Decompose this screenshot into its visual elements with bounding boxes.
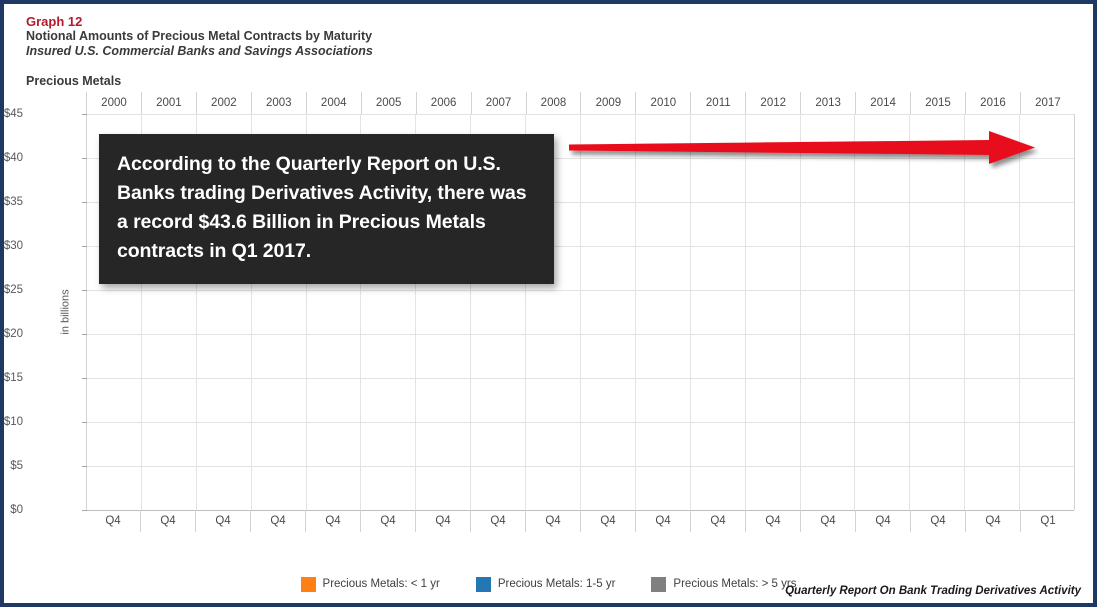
legend-item-lt1yr[interactable]: Precious Metals: < 1 yr [301,577,440,592]
callout-text: According to the Quarterly Report on U.S… [117,150,536,266]
bar-column[interactable] [964,114,1019,510]
legend-item-yr1to5[interactable]: Precious Metals: 1-5 yr [476,577,616,592]
quarter-label: Q4 [86,510,140,532]
chart-header: Graph 12 Notional Amounts of Precious Me… [26,14,373,59]
year-header-band: 2000200120022003200420052006200720082009… [86,92,1075,115]
quarter-label: Q4 [855,510,910,532]
bar-column[interactable] [745,114,800,510]
year-label: 2003 [251,92,306,114]
y-tick-label: $30 [4,240,23,252]
bar-column[interactable] [690,114,745,510]
quarter-label: Q4 [965,510,1020,532]
legend-swatch-icon [301,577,316,592]
y-tick-label: $5 [10,460,23,472]
y-axis-label: in billions [60,289,72,334]
bar-column[interactable] [909,114,964,510]
quarter-label: Q4 [910,510,965,532]
quarter-label: Q4 [195,510,250,532]
y-tick-label: $20 [4,328,23,340]
year-label: 2008 [526,92,581,114]
quarter-label: Q4 [635,510,690,532]
y-tick-label: $0 [10,504,23,516]
year-label: 2015 [910,92,965,114]
graph-number: Graph 12 [26,14,373,29]
series-heading: Precious Metals [26,74,121,88]
legend-swatch-icon [651,577,666,592]
y-tick-label: $15 [4,372,23,384]
quarter-label-band: Q4Q4Q4Q4Q4Q4Q4Q4Q4Q4Q4Q4Q4Q4Q4Q4Q4Q1 [86,510,1075,532]
bar-column[interactable] [580,114,635,510]
year-label: 2017 [1020,92,1075,114]
quarter-label: Q4 [415,510,470,532]
chart-subtitle: Insured U.S. Commercial Banks and Saving… [26,44,373,59]
quarter-label: Q1 [1020,510,1075,532]
quarter-label: Q4 [250,510,305,532]
legend-label: Precious Metals: < 1 yr [323,578,440,590]
year-label: 2014 [855,92,910,114]
y-tick-label: $40 [4,152,23,164]
legend-item-gt5yr[interactable]: Precious Metals: > 5 yrs [651,577,796,592]
year-label: 2005 [361,92,416,114]
bar-column[interactable] [635,114,690,510]
callout-box: According to the Quarterly Report on U.S… [99,134,554,284]
year-label: 2006 [416,92,471,114]
year-label: 2007 [471,92,526,114]
quarter-label: Q4 [140,510,195,532]
year-label: 2009 [580,92,635,114]
y-tick-label: $25 [4,284,23,296]
bar-column[interactable] [1019,114,1074,510]
quarter-label: Q4 [360,510,415,532]
year-label: 2012 [745,92,800,114]
legend-label: Precious Metals: 1-5 yr [498,578,616,590]
quarter-label: Q4 [690,510,745,532]
year-label: 2016 [965,92,1020,114]
bar-column[interactable] [800,114,855,510]
quarter-label: Q4 [305,510,360,532]
y-tick-label: $10 [4,416,23,428]
y-tick-label: $45 [4,108,23,120]
y-tick-label: $35 [4,196,23,208]
attribution-text: Quarterly Report On Bank Trading Derivat… [785,585,1081,597]
year-label: 2001 [141,92,196,114]
quarter-label: Q4 [580,510,635,532]
year-label: 2004 [306,92,361,114]
chart-title: Notional Amounts of Precious Metal Contr… [26,29,373,44]
year-label: 2010 [635,92,690,114]
year-label: 2013 [800,92,855,114]
legend-swatch-icon [476,577,491,592]
chart-frame: Graph 12 Notional Amounts of Precious Me… [0,0,1097,607]
bar-column[interactable] [854,114,909,510]
quarter-label: Q4 [470,510,525,532]
quarter-label: Q4 [525,510,580,532]
legend-label: Precious Metals: > 5 yrs [673,578,796,590]
year-label: 2002 [196,92,251,114]
quarter-label: Q4 [800,510,855,532]
year-label: 2011 [690,92,745,114]
year-label: 2000 [86,92,141,114]
quarter-label: Q4 [745,510,800,532]
